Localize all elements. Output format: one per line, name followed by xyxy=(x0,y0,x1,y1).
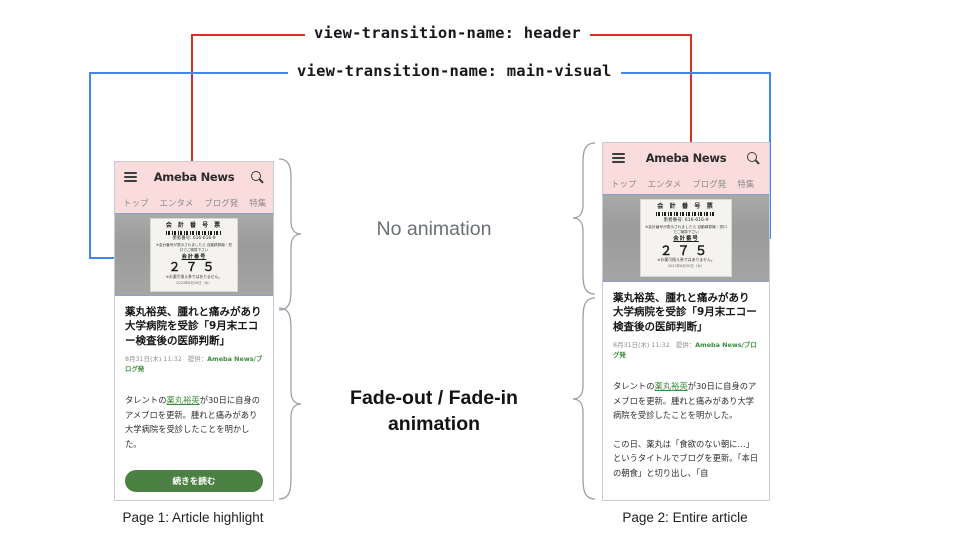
phone-mockup-page2: Ameba News トップ エンタメ ブログ発 特集 会 計 番 号 票 患者… xyxy=(602,142,770,501)
ticket-patient-number: 患者番号: 616-616-9 xyxy=(663,218,708,224)
ticket-instruction: ※会計番号が表示されましたら 自動精算機・窓口でご精算下さい xyxy=(645,225,727,235)
article-meta: 8月31日(木) 11:32 提供：Ameba News/ブログ発 xyxy=(125,355,263,374)
ticket-number: ２７５ xyxy=(168,260,219,275)
article-paragraph-1: タレントの薬丸裕英が30日に自身のアメブロを更新。腫れと痛みがあり大学病院を受診… xyxy=(613,379,759,423)
ticket-barcode xyxy=(166,231,222,235)
phone1-main-visual: 会 計 番 号 票 患者番号: 616-616-9 ※会計番号が表示されましたら… xyxy=(115,213,273,296)
brace-top-right xyxy=(571,141,597,296)
read-more-button[interactable]: 続きを読む xyxy=(125,470,263,492)
receipt-ticket: 会 計 番 号 票 患者番号: 616-616-9 ※会計番号が表示されましたら… xyxy=(150,218,238,292)
hamburger-menu-icon[interactable] xyxy=(612,153,625,163)
brace-top xyxy=(277,157,303,312)
brand-logo: Ameba News xyxy=(154,170,235,184)
article-inline-link[interactable]: 薬丸裕英 xyxy=(655,381,688,391)
main-visual-line-left-vertical xyxy=(89,72,91,258)
phone-mockup-page1: Ameba News トップ エンタメ ブログ発 特集 会 計 番 号 票 患者… xyxy=(114,161,274,501)
main-visual-transition-label: view-transition-name: main-visual xyxy=(288,62,621,80)
article-headline: 薬丸裕英、腫れと痛みがあり大学病院を受診「9月末エコー検査後の医師判断」 xyxy=(125,305,263,348)
phone1-header-top-row: Ameba News xyxy=(115,162,273,192)
ticket-footnote: ※お薬引換え券ではありません。 xyxy=(166,275,222,280)
phone2-header: Ameba News トップ エンタメ ブログ発 特集 xyxy=(603,143,769,194)
caption-page2: Page 2: Entire article xyxy=(602,510,768,525)
nav-item-top[interactable]: トップ xyxy=(611,178,637,190)
article-meta-date: 8月31日(木) 11:32 xyxy=(125,355,182,363)
header-line-left-top xyxy=(191,34,311,36)
phone2-nav: トップ エンタメ ブログ発 特集 xyxy=(603,173,769,194)
ticket-title: 会 計 番 号 票 xyxy=(166,222,222,230)
nav-item-feature[interactable]: 特集 xyxy=(249,197,266,209)
search-icon[interactable] xyxy=(747,152,760,165)
brace-bottom xyxy=(277,306,303,501)
phone2-article-body: 薬丸裕英、腫れと痛みがあり大学病院を受診「9月末エコー検査後の医師判断」 8月3… xyxy=(603,282,769,480)
phone1-header: Ameba News トップ エンタメ ブログ発 特集 xyxy=(115,162,273,213)
ticket-date: 2023年8月30日（水） xyxy=(176,281,211,285)
ticket-instruction: ※会計番号が表示されましたら 自動精算機・窓口でご精算下さい xyxy=(155,243,233,252)
nav-item-feature[interactable]: 特集 xyxy=(737,178,754,190)
brand-logo: Ameba News xyxy=(646,151,727,165)
header-line-left-vertical xyxy=(191,34,193,161)
header-transition-label: view-transition-name: header xyxy=(305,24,590,42)
ticket-footnote: ※お薬引換え券ではありません。 xyxy=(657,258,715,263)
nav-item-top[interactable]: トップ xyxy=(123,197,149,209)
article-paragraph-1: タレントの薬丸裕英が30日に自身のアメブロを更新。腫れと痛みがあり大学病院を受診… xyxy=(125,393,263,451)
phone2-main-visual: 会 計 番 号 票 患者番号: 616-616-9 ※会計番号が表示されましたら… xyxy=(603,194,769,282)
ticket-number-label: 会計番号 xyxy=(673,236,699,243)
caption-page1: Page 1: Article highlight xyxy=(114,510,272,525)
search-icon[interactable] xyxy=(251,171,264,184)
phone1-article-body: 薬丸裕英、腫れと痛みがあり大学病院を受診「9月末エコー検査後の医師判断」 8月3… xyxy=(115,296,273,492)
brace-bottom-right xyxy=(571,296,597,501)
article-paragraph-2: この日、薬丸は「食欲のない朝に…」というタイトルでブログを更新。「本日の朝食」と… xyxy=(613,437,759,481)
phone1-nav: トップ エンタメ ブログ発 特集 xyxy=(115,192,273,213)
nav-item-blog[interactable]: ブログ発 xyxy=(204,197,238,209)
ticket-number: ２７５ xyxy=(660,243,713,259)
fade-animation-note: Fade-out / Fade-in animation xyxy=(318,385,550,438)
ticket-patient-number: 患者番号: 616-616-9 xyxy=(172,236,215,242)
nav-item-blog[interactable]: ブログ発 xyxy=(692,178,726,190)
article-meta-date: 8月31日(木) 11:32 xyxy=(613,341,670,349)
phone2-header-top-row: Ameba News xyxy=(603,143,769,173)
hamburger-menu-icon[interactable] xyxy=(124,172,137,182)
ticket-barcode xyxy=(656,212,715,216)
main-visual-line-left-stub xyxy=(89,257,115,259)
nav-item-entame[interactable]: エンタメ xyxy=(648,178,682,190)
article-meta-source-prefix: 提供： xyxy=(188,355,207,363)
article-headline: 薬丸裕英、腫れと痛みがあり大学病院を受診「9月末エコー検査後の医師判断」 xyxy=(613,291,759,334)
article-meta-source-prefix: 提供： xyxy=(676,341,695,349)
article-meta: 8月31日(木) 11:32 提供：Ameba News/ブログ発 xyxy=(613,341,759,360)
ticket-title: 会 計 番 号 票 xyxy=(657,203,715,211)
main-visual-line-left-top xyxy=(89,72,294,74)
nav-item-entame[interactable]: エンタメ xyxy=(160,197,194,209)
slide-canvas: view-transition-name: header view-transi… xyxy=(0,0,960,540)
ticket-date: 2023年8月30日（水） xyxy=(668,264,705,268)
no-animation-note: No animation xyxy=(318,218,550,241)
article-inline-link[interactable]: 薬丸裕英 xyxy=(167,395,200,405)
receipt-ticket: 会 計 番 号 票 患者番号: 616-616-9 ※会計番号が表示されましたら… xyxy=(640,199,732,277)
header-line-right-vertical xyxy=(690,34,692,144)
header-line-right-top xyxy=(573,34,692,36)
